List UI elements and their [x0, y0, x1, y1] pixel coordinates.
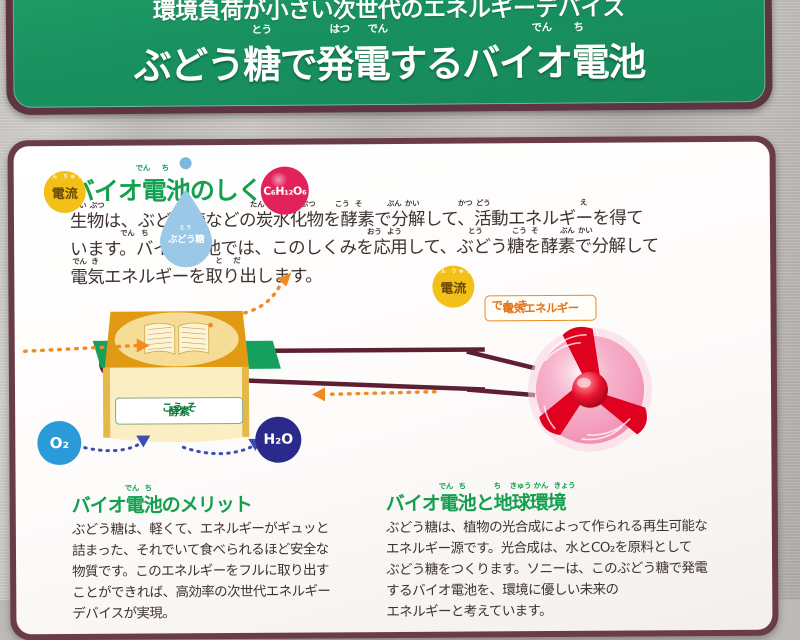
book-page-left [145, 323, 175, 354]
ruby-annotation: ち [573, 19, 583, 34]
poster-root: 環境負荷が小さい次世代のエネルギーデバイス ぶどう糖で発電するバイオ電池 とうは… [0, 0, 800, 600]
ruby-annotation: とう [251, 22, 272, 37]
device-trim-left [103, 368, 110, 438]
flow-water-dotted [183, 445, 255, 454]
body-card-inner: バイオ電池のしくみ でんち 生物は、ぶどう糖などの炭水化物を酵素で分解して、活動… [14, 142, 773, 635]
merit-paragraph: ぶどう糖は、軽くて、エネルギーがギュッと 詰まった、それでいて食べられるほど安全… [72, 518, 331, 625]
flow-current-right-arrowhead [312, 387, 325, 401]
merit-line-4: デバイスが実現。 [72, 602, 330, 625]
environment-line-1: エネルギー源です。光合成は、水とCO₂を原料として [386, 537, 708, 560]
badge-water-label: H₂O [263, 433, 293, 447]
electric-energy-ruby: でん き [491, 297, 527, 313]
glucose-droplet-shape [160, 157, 213, 267]
fan-hub-highlight [577, 378, 591, 388]
header-subtitle: 環境負荷が小さい次世代のエネルギーデバイス [153, 0, 625, 26]
header-title-wrap: ぶどう糖で発電するバイオ電池 とうはつでんでんち [133, 31, 644, 90]
ruby-annotation: でん [531, 20, 552, 35]
flow-current-right-dotted [325, 392, 435, 395]
ruby-annotation: きゅう [510, 480, 532, 491]
body-card: バイオ電池のしくみ でんち 生物は、ぶどう糖などの炭水化物を酵素で分解して、活動… [7, 136, 778, 640]
flow-to-formula-dotted [236, 277, 284, 315]
badge-current-left-label: 電流 [52, 187, 78, 200]
ruby-annotation: ち [459, 481, 466, 492]
header-inner: 環境負荷が小さい次世代のエネルギーデバイス ぶどう糖で発電するバイオ電池 とうは… [12, 0, 765, 108]
badge-oxygen: O₂ [37, 421, 81, 465]
badge-current-left-ruby: でん りゅう [44, 175, 86, 180]
ruby-annotation: でん [439, 481, 453, 492]
fan-assembly [528, 326, 653, 452]
merit-line-0: ぶどう糖は、軽くて、エネルギーがギュッと [72, 518, 330, 541]
ruby-annotation: でん [367, 21, 388, 36]
badge-current-right-label: 電流 [440, 282, 466, 295]
badge-formula-label: C₆H₁₂O₆ [263, 185, 306, 196]
flow-to-formula-arrowhead [277, 273, 291, 287]
glucose-label: ぶどう糖 [160, 231, 212, 245]
droplet-dot [180, 157, 192, 169]
ruby-annotation: きょう [554, 480, 576, 491]
environment-paragraph: ぶどう糖は、植物の光合成によって作られる再生可能な エネルギー源です。光合成は、… [386, 516, 708, 623]
header-title: ぶどう糖で発電するバイオ電池 [133, 31, 644, 90]
badge-formula: C₆H₁₂O₆ [261, 167, 309, 215]
badge-water: H₂O [255, 417, 301, 463]
enzyme-ruby: こう そ [116, 399, 242, 416]
wire-fan-lead-bottom [467, 389, 535, 395]
badge-oxygen-label: O₂ [50, 435, 69, 450]
ruby-annotation: ち [494, 480, 501, 491]
electric-energy-box: でん き 電気エネルギー [484, 295, 596, 322]
badge-current-right: でん りゅう 電流 [432, 266, 474, 308]
book-spark-icon [208, 323, 213, 328]
badge-current-left: でん りゅう 電流 [44, 171, 86, 213]
environment-line-2: ぶどう糖をつくります。ソニーは、このぶどう糖で発電 [386, 558, 708, 581]
merit-line-2: 物質です。このエネルギーをフルに取り出す [72, 560, 330, 583]
ruby-annotation: ち [145, 482, 152, 493]
enzyme-box: こう そ 酵素 [115, 397, 243, 425]
fan-hub [572, 372, 608, 408]
badge-current-right-ruby: でん りゅう [432, 270, 474, 275]
merit-line-3: ことができれば、高効率の次世代エネルギー [72, 581, 330, 604]
environment-line-0: ぶどう糖は、植物の光合成によって作られる再生可能な [386, 516, 708, 539]
flow-oxygen-dotted [77, 442, 143, 451]
merit-line-1: 詰まった、それでいて食べられるほど安全な [72, 539, 330, 562]
section-heading-environment: バイオ電池と地球環境 [386, 488, 566, 516]
glucose-label-wrap: とう ぶどう糖 [160, 223, 212, 245]
ruby-annotation: はつ [329, 21, 350, 36]
section-heading-merit: バイオ電池のメリット [72, 490, 252, 518]
wire-fan-lead-top [467, 351, 535, 368]
environment-line-4: エネルギーと考えています。 [386, 600, 708, 623]
ruby-annotation: でん [125, 483, 139, 494]
ruby-annotation: かん [534, 480, 548, 491]
environment-line-3: するバイオ電池を、環境に優しい未来の [386, 579, 708, 602]
header-plate: 環境負荷が小さい次世代のエネルギーデバイス ぶどう糖で発電するバイオ電池 とうは… [5, 0, 772, 115]
